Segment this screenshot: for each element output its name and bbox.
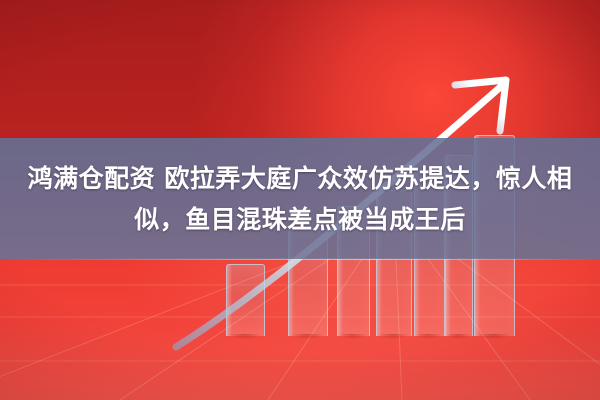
headline-banner: 鸿满仓配资 欧拉弄大庭广众效仿苏提达，惊人相似，鱼目混珠差点被当成王后 xyxy=(0,138,600,259)
banner-image: 鸿满仓配资 欧拉弄大庭广众效仿苏提达，惊人相似，鱼目混珠差点被当成王后 xyxy=(0,0,600,400)
headline-text: 鸿满仓配资 欧拉弄大庭广众效仿苏提达，惊人相似，鱼目混珠差点被当成王后 xyxy=(20,158,580,240)
